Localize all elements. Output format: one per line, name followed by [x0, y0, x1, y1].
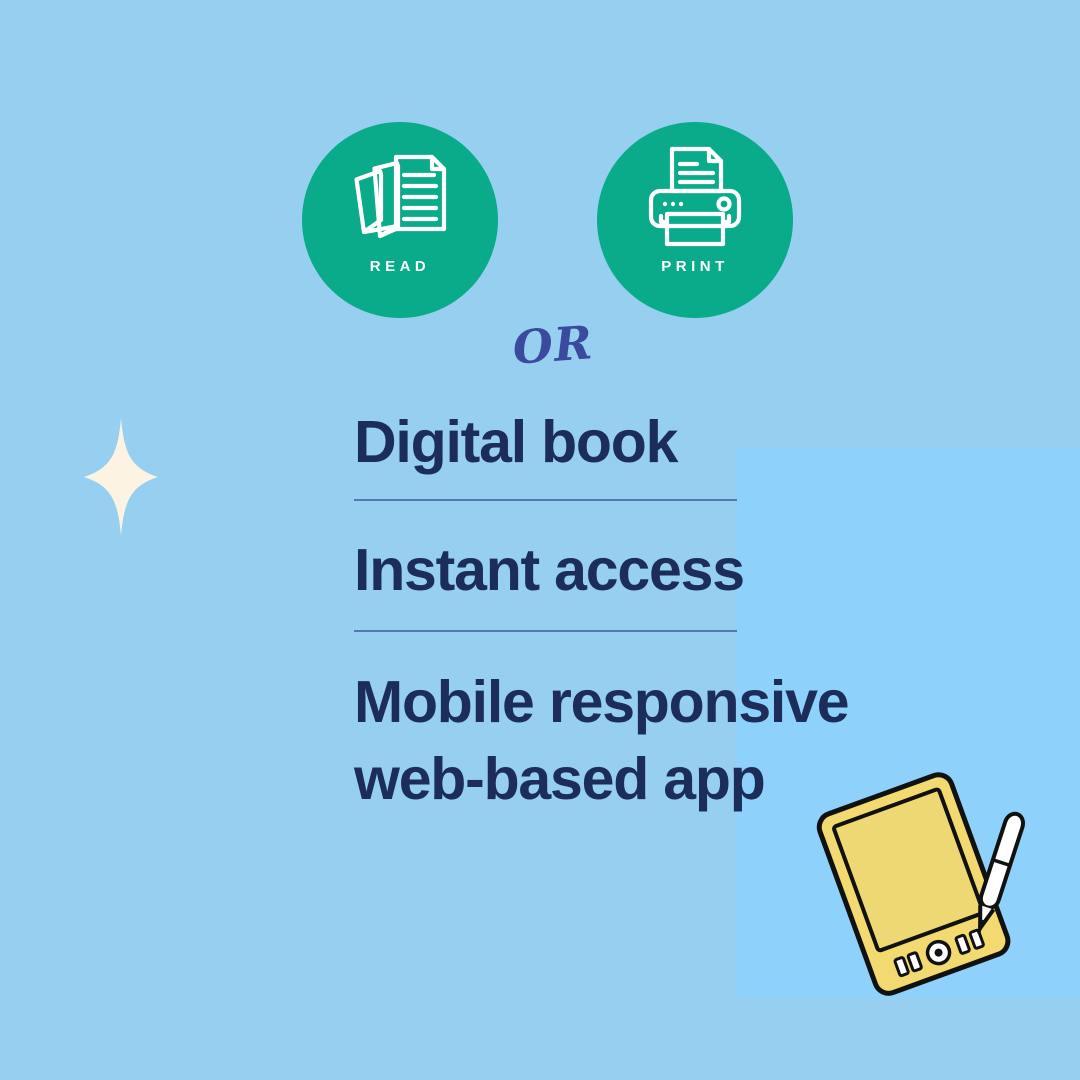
badge-print[interactable]: PRINT — [597, 122, 793, 318]
feature-divider-2 — [354, 630, 737, 632]
printer-icon — [639, 144, 751, 252]
promo-canvas: READ — [0, 0, 1080, 1080]
four-point-sparkle-icon — [84, 418, 158, 536]
badge-label-print: PRINT — [661, 258, 729, 275]
documents-stack-icon — [344, 144, 456, 252]
or-separator-text: OR — [491, 314, 614, 376]
feature-mobile-responsive: Mobile responsive web-based app — [354, 664, 848, 819]
feature-instant-access: Instant access — [354, 532, 744, 609]
feature-divider-1 — [354, 499, 737, 501]
feature-digital-book: Digital book — [354, 404, 677, 481]
badge-row: READ — [0, 122, 1080, 322]
badge-read[interactable]: READ — [302, 122, 498, 318]
tablet-ereader-illustration — [800, 760, 1050, 1010]
badge-label-read: READ — [370, 258, 431, 275]
